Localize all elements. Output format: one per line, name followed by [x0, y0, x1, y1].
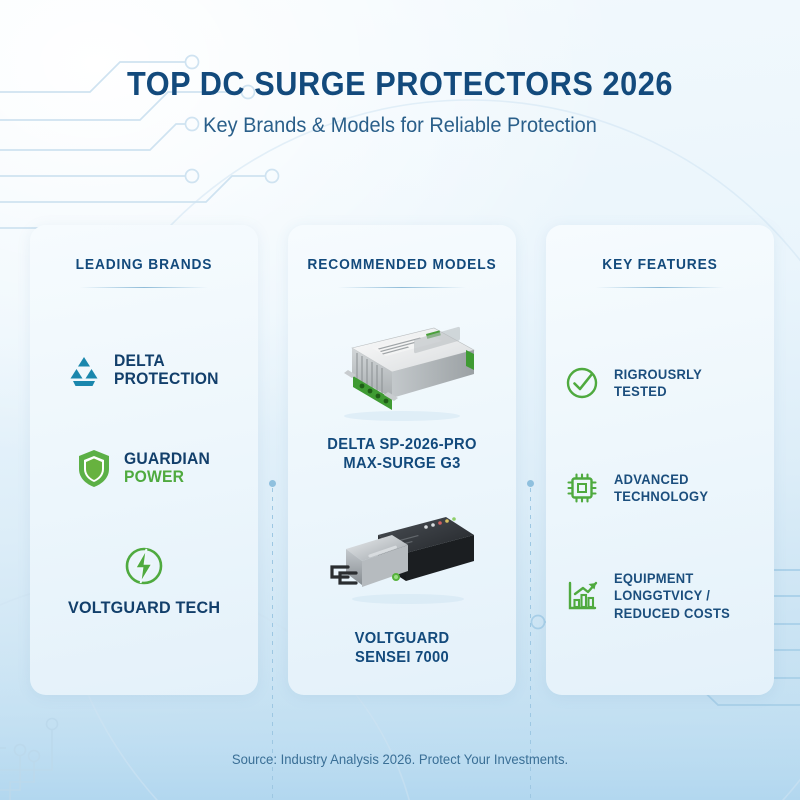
shield-icon — [74, 447, 114, 489]
lightning-circle-icon — [121, 543, 167, 589]
card-recommended-models: RECOMMENDED MODELS — [288, 225, 516, 695]
feature-advanced-technology: ADVANCED TECHNOLOGY — [564, 470, 774, 506]
feature-equipment-longevity: EQUIPMENT LONGGTVICY / REDUCED COSTS — [564, 570, 774, 622]
card-key-features: KEY FEATURES RIGROUSRLY TESTED — [546, 225, 774, 695]
brand-line1: GUARDIAN — [124, 450, 210, 468]
model-name: VOLTGUARD SENSEI 7000 — [294, 629, 511, 668]
chip-icon — [564, 470, 600, 506]
model-name: DELTA SP-2026-PRO MAX-SURGE G3 — [294, 435, 511, 474]
heading-rule — [338, 287, 466, 288]
columns-container: LEADING BRANDS DELTA PROTECTION — [0, 225, 800, 695]
brand-delta-protection: DELTA PROTECTION — [30, 350, 258, 390]
model-voltguard-sensei-7000: VOLTGUARD SENSEI 7000 — [288, 505, 516, 668]
feature-line2: LONGGTVICY / — [614, 587, 730, 604]
feature-text: EQUIPMENT LONGGTVICY / REDUCED COSTS — [614, 570, 730, 622]
finned-dc-surge-module-photo — [322, 320, 482, 425]
page-title: TOP DC SURGE PROTECTORS 2026 — [28, 66, 772, 102]
feature-line3: REDUCED COSTS — [614, 605, 730, 622]
feature-line1: ADVANCED — [614, 471, 708, 488]
brand-name: GUARDIAN POWER — [124, 450, 210, 487]
feature-line2: TECHNOLOGY — [614, 488, 708, 505]
model-line2: MAX-SURGE G3 — [294, 454, 511, 473]
model-line1: VOLTGUARD — [294, 629, 511, 648]
brand-name: VOLTGUARD TECH — [68, 598, 220, 617]
feature-line1: RIGROUSRLY — [614, 366, 702, 383]
header: TOP DC SURGE PROTECTORS 2026 Key Brands … — [0, 66, 800, 138]
plug-in-surge-protector-photo — [322, 505, 482, 615]
feature-line1: EQUIPMENT — [614, 570, 730, 587]
heading-rule — [596, 287, 724, 288]
feature-line2: TESTED — [614, 383, 702, 400]
check-circle-icon — [564, 365, 600, 401]
column-heading-models: RECOMMENDED MODELS — [294, 257, 511, 273]
brand-line1: VOLTGUARD TECH — [68, 598, 220, 617]
divider-dot-top — [269, 480, 276, 487]
column-heading-brands: LEADING BRANDS — [36, 257, 253, 273]
brand-voltguard-tech: VOLTGUARD TECH — [30, 543, 258, 617]
brand-name: DELTA PROTECTION — [114, 352, 219, 389]
model-line1: DELTA SP-2026-PRO — [294, 435, 511, 454]
brand-line2: POWER — [124, 468, 210, 486]
feature-rigrousrly-tested: RIGROUSRLY TESTED — [564, 365, 774, 401]
delta-triangle-icon — [64, 350, 104, 390]
card-leading-brands: LEADING BRANDS DELTA PROTECTION — [30, 225, 258, 695]
heading-rule — [80, 287, 208, 288]
brand-line2: PROTECTION — [114, 370, 219, 388]
feature-text: RIGROUSRLY TESTED — [614, 366, 702, 401]
model-delta-sp-2026-pro: DELTA SP-2026-PRO MAX-SURGE G3 — [288, 320, 516, 474]
brand-line1: DELTA — [114, 352, 219, 370]
page-subtitle: Key Brands & Models for Reliable Protect… — [20, 114, 780, 138]
column-heading-features: KEY FEATURES — [552, 257, 769, 273]
model-line2: SENSEI 7000 — [294, 648, 511, 667]
bar-chart-arrow-icon — [564, 578, 600, 614]
feature-text: ADVANCED TECHNOLOGY — [614, 471, 708, 506]
divider-dot-top — [527, 480, 534, 487]
infographic-canvas: TOP DC SURGE PROTECTORS 2026 Key Brands … — [0, 0, 800, 800]
brand-guardian-power: GUARDIAN POWER — [30, 447, 258, 489]
footer-source: Source: Industry Analysis 2026. Protect … — [12, 752, 788, 767]
